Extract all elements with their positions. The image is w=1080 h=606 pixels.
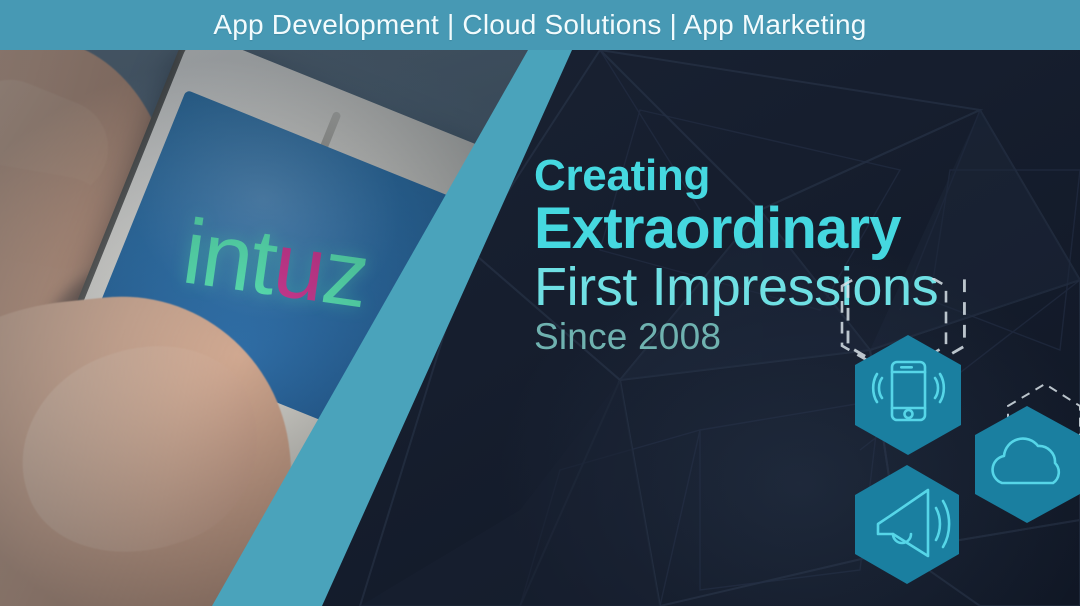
services-list-text: App Development | Cloud Solutions | App … (213, 9, 866, 41)
hero-stage: intuz (0, 50, 1080, 606)
service-hexagon-cluster (832, 278, 1080, 590)
mobile-app-hexagon[interactable] (855, 335, 961, 455)
services-topbar: App Development | Cloud Solutions | App … (0, 0, 1080, 50)
headline-line-creating: Creating (534, 154, 938, 198)
headline-line-extraordinary: Extraordinary (534, 200, 938, 258)
intuz-hero-banner: App Development | Cloud Solutions | App … (0, 0, 1080, 606)
marketing-hexagon[interactable] (855, 465, 959, 584)
hexagon-icons-svg (832, 278, 1080, 590)
cloud-hexagon[interactable] (975, 406, 1080, 523)
